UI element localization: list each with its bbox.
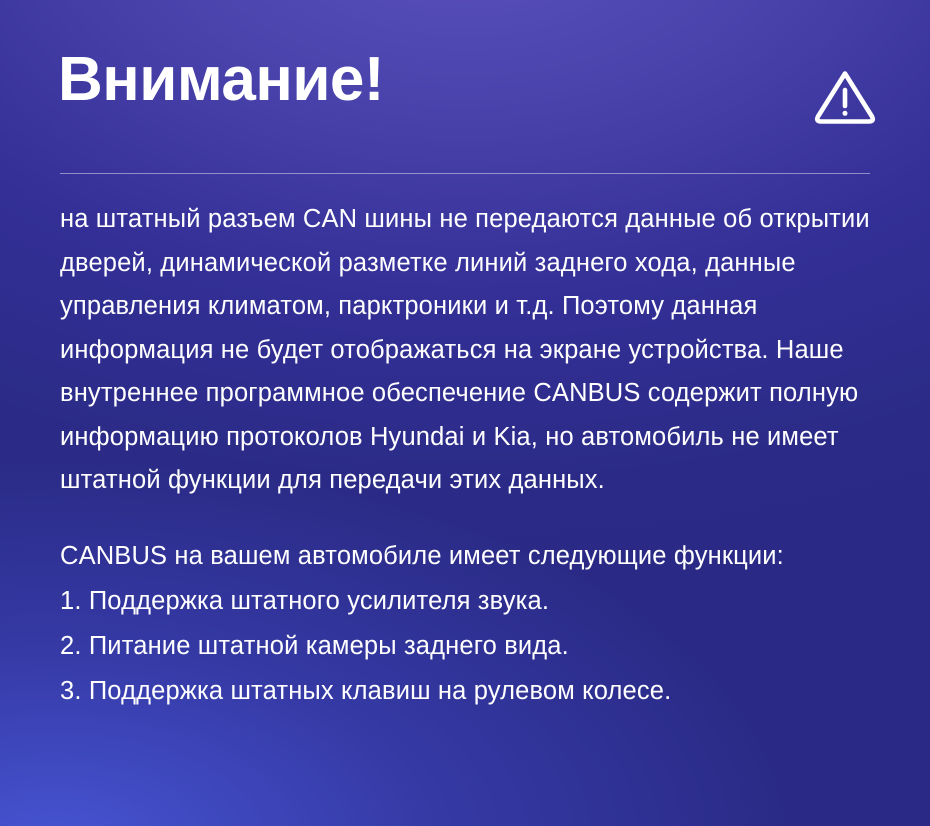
features-list: 1. Поддержка штатного усилителя звука. 2… [60, 579, 880, 714]
list-item: 2. Питание штатной камеры заднего вида. [60, 624, 880, 669]
list-item-number: 1. [60, 587, 82, 615]
list-item-label: Поддержка штатных клавиш на рулевом коле… [89, 677, 672, 705]
list-item-number: 3. [60, 677, 82, 705]
list-item: 3. Поддержка штатных клавиш на рулевом к… [60, 669, 880, 714]
warning-triangle-icon [812, 66, 878, 126]
page-title: Внимание! [58, 49, 384, 111]
list-item-label: Питание штатной камеры заднего вида. [89, 632, 569, 660]
content-spacer [60, 503, 880, 534]
list-item: 1. Поддержка штатного усилителя звука. [60, 579, 880, 624]
banner-header: Внимание! [0, 0, 930, 174]
header-divider [60, 173, 870, 174]
list-item-number: 2. [60, 632, 82, 660]
warning-paragraph: на штатный разъем CAN шины не передаются… [60, 198, 880, 503]
features-intro: CANBUS на вашем автомобиле имеет следующ… [60, 534, 880, 579]
warning-banner: Внимание! на штатный разъем CAN шины не … [0, 0, 930, 826]
banner-content: на штатный разъем CAN шины не передаются… [60, 198, 880, 714]
list-item-label: Поддержка штатного усилителя звука. [89, 587, 549, 615]
